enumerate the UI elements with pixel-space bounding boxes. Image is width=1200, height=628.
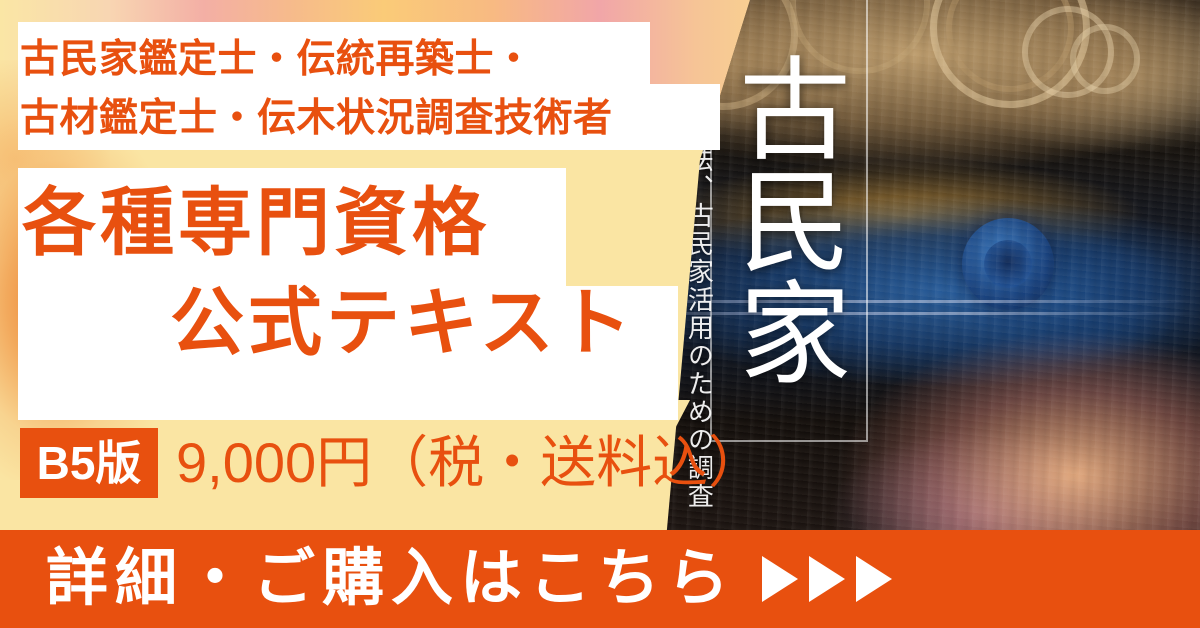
headline-line-2: 公式テキスト: [170, 286, 636, 360]
qualifications-text: 古民家鑑定士・伝統再築士・ 古材鑑定士・伝木状況調査技術者: [20, 30, 720, 149]
promo-banner: 古民家 伝統構法、古民家活用のための調査と再生の 古民家鑑定士・伝統再築士・ 古…: [0, 0, 1200, 628]
book-cover-title: 古民家: [722, 4, 856, 434]
format-badge: B5版: [20, 428, 158, 498]
price-text: 9,000円（税・送料込）: [176, 430, 764, 496]
play-triangle-icon: [762, 556, 798, 602]
cta-arrow-group: [762, 556, 892, 602]
cta-label: 詳細・ご購入はこちら: [46, 548, 736, 610]
play-triangle-icon: [809, 556, 845, 602]
cta-bar[interactable]: 詳細・ご購入はこちら: [0, 530, 1200, 628]
headline-line-1: 各種専門資格: [22, 186, 490, 260]
play-triangle-icon: [856, 556, 892, 602]
